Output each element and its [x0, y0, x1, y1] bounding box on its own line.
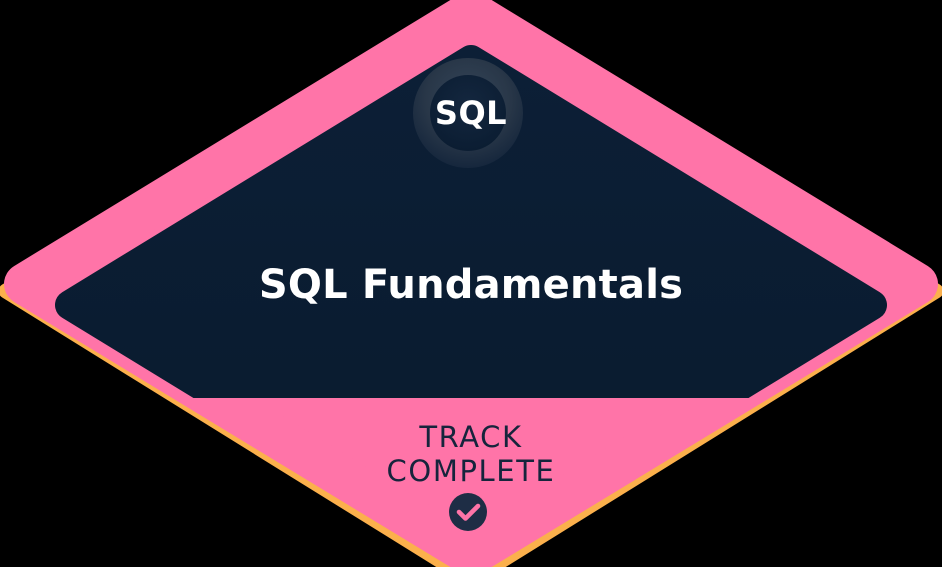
check-circle-icon: [449, 493, 487, 531]
track-badge[interactable]: SQL SQL Fundamentals TRACK COMPLETE: [0, 0, 942, 567]
badge-artwork: [0, 0, 942, 567]
sql-chip-icon: [413, 58, 523, 168]
